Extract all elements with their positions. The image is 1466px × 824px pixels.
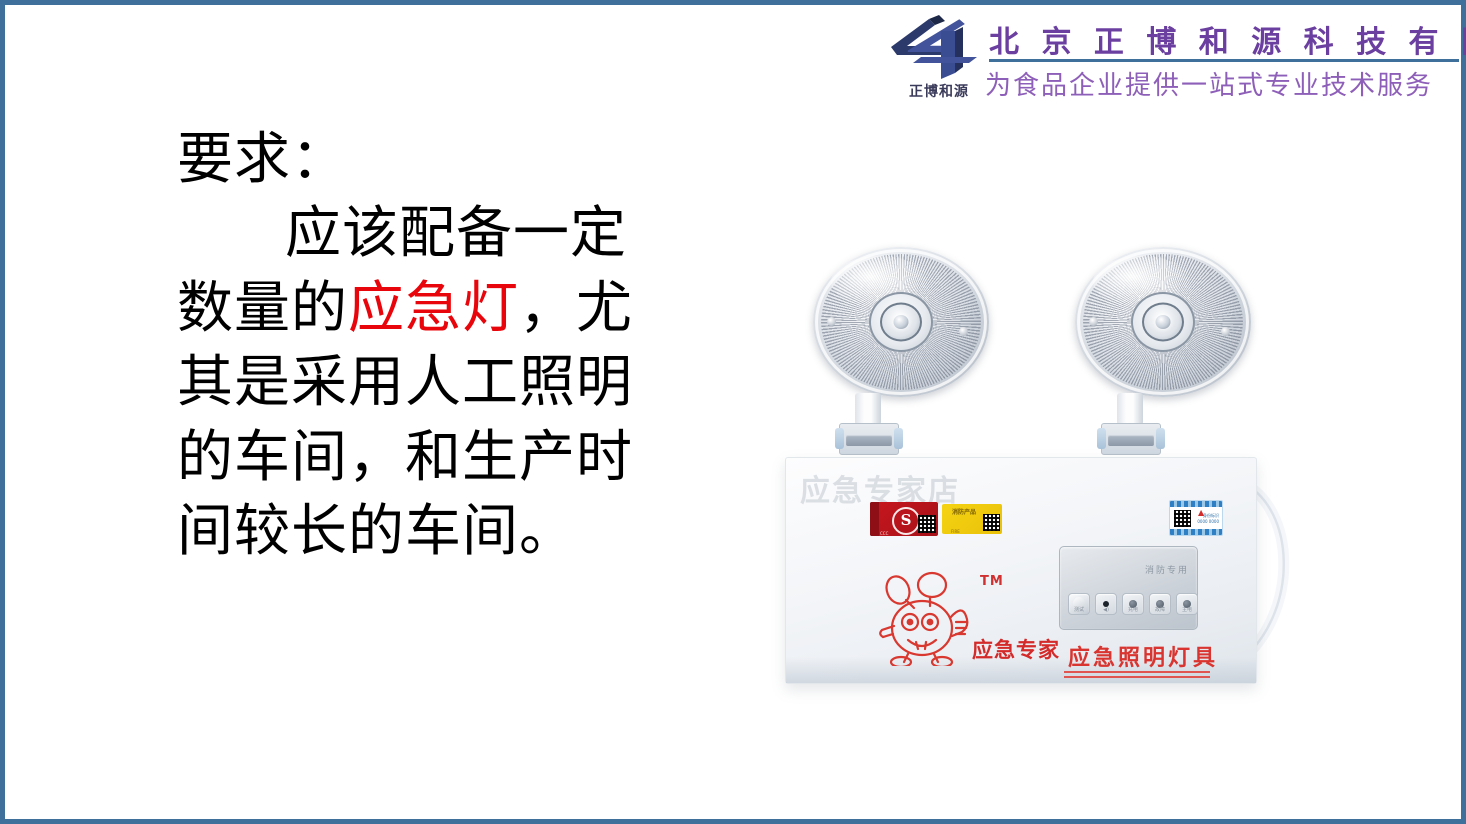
red-sticker-band	[870, 502, 879, 536]
bracket-ear-left-b	[894, 428, 903, 449]
emergency-lighting-fixture-photo: 应急专家店 S CCC 消防产品 FIRE ▲ 身份标识0000	[745, 225, 1365, 705]
company-z-logo-icon	[883, 13, 993, 85]
mains-label: 主电	[1177, 606, 1197, 613]
lamp-screw-left-b	[959, 327, 968, 336]
blue-sticker-bottom-bar	[1170, 529, 1222, 535]
trademark-symbol: TM	[980, 574, 1004, 589]
yellow-sticker-qr-icon	[983, 514, 1000, 531]
product-label: 应急照明灯具	[1068, 640, 1218, 672]
panel-title: 消防专用	[1145, 563, 1189, 576]
product-label-underline-2	[1064, 676, 1210, 678]
fire-yellow-certification-sticker: 消防产品 FIRE	[942, 504, 1002, 534]
logo-caption: 正博和源	[891, 81, 987, 101]
fault-label: 故障	[1150, 606, 1170, 613]
requirement-text-block: 要求： 应该配备一定 数量的应急灯，尤 其是采用人工照明 的车间，和生产时 间较…	[177, 123, 657, 570]
lamp-bracket-right	[1101, 423, 1161, 455]
bracket-ear-right-b	[1156, 428, 1165, 449]
lamp-screw-right-a	[1089, 317, 1098, 326]
charge-indicator-icon[interactable]: 充电	[1122, 593, 1144, 615]
lamp-head-left	[813, 247, 989, 397]
yellow-sticker-caption: FIRE	[951, 529, 960, 534]
lamp-neck-left	[855, 393, 881, 425]
line2-part-a: 数量的	[177, 276, 348, 341]
requirement-line-1: 应该配备一定	[177, 197, 657, 271]
blue-sticker-text: 身份标识0000 0000	[1197, 513, 1219, 525]
ccc-red-certification-sticker: S CCC	[870, 502, 938, 536]
requirement-line-4: 的车间，和生产时	[177, 421, 657, 495]
panel-button-row: 测试 ◀) 充电 故障	[1068, 593, 1198, 615]
yellow-sticker-text: 消防产品	[952, 507, 976, 516]
lamp-neck-right	[1117, 393, 1143, 425]
slide-canvas: 正博和源 北 京 正 博 和 源 科 技 有 限 公 司 为食品企业提供一站式专…	[0, 0, 1466, 824]
mascot-brand-name: 应急专家	[972, 634, 1060, 664]
company-slogan: 为食品企业提供一站式专业技术服务	[985, 65, 1463, 102]
lamp-bulb-left	[894, 315, 909, 329]
test-button-label: 测试	[1069, 606, 1089, 613]
lamp-screw-right-b	[1221, 327, 1230, 336]
bracket-ear-right-a	[1097, 428, 1106, 449]
requirement-line-2: 数量的应急灯，尤	[177, 272, 657, 346]
requirement-line-3: 其是采用人工照明	[177, 346, 657, 420]
test-button-icon[interactable]: 测试	[1068, 593, 1090, 615]
requirement-line-5: 间较长的车间。	[177, 495, 657, 569]
lamp-bracket-left	[839, 423, 899, 455]
s-certification-mark: S	[892, 507, 920, 535]
red-sticker-qr-icon	[918, 515, 936, 533]
fault-indicator-icon[interactable]: 故障	[1149, 593, 1171, 615]
buzzer-indicator-icon[interactable]: ◀)	[1095, 593, 1117, 615]
blue-anti-counterfeit-sticker: ▲ 身份标识0000 0000	[1169, 500, 1223, 536]
company-name: 北 京 正 博 和 源 科 技 有 限 公 司	[989, 17, 1459, 61]
lamp-head-right	[1075, 247, 1251, 397]
lamp-screw-left-a	[827, 317, 836, 326]
requirement-heading: 要求：	[177, 123, 657, 197]
mains-indicator-icon[interactable]: 主电	[1176, 593, 1198, 615]
buzzer-label: ◀)	[1096, 607, 1116, 613]
blue-sticker-qr-icon	[1174, 510, 1191, 527]
line2-part-b: ，尤	[519, 276, 633, 341]
highlight-emergency-light: 应急灯	[348, 276, 519, 341]
control-panel[interactable]: 消防专用 测试 ◀) 充电	[1059, 546, 1198, 630]
charge-label: 充电	[1123, 606, 1143, 613]
blue-sticker-top-bar	[1170, 501, 1222, 507]
red-sticker-caption: CCC	[880, 531, 888, 536]
company-header: 正博和源 北 京 正 博 和 源 科 技 有 限 公 司 为食品企业提供一站式专…	[869, 7, 1461, 111]
bracket-ear-left-a	[835, 428, 844, 449]
lamp-bulb-right	[1156, 315, 1171, 329]
fixture-body: 应急专家店 S CCC 消防产品 FIRE ▲ 身份标识0000	[785, 457, 1257, 684]
product-label-underline-1	[1064, 671, 1210, 673]
header-divider	[989, 59, 1459, 62]
